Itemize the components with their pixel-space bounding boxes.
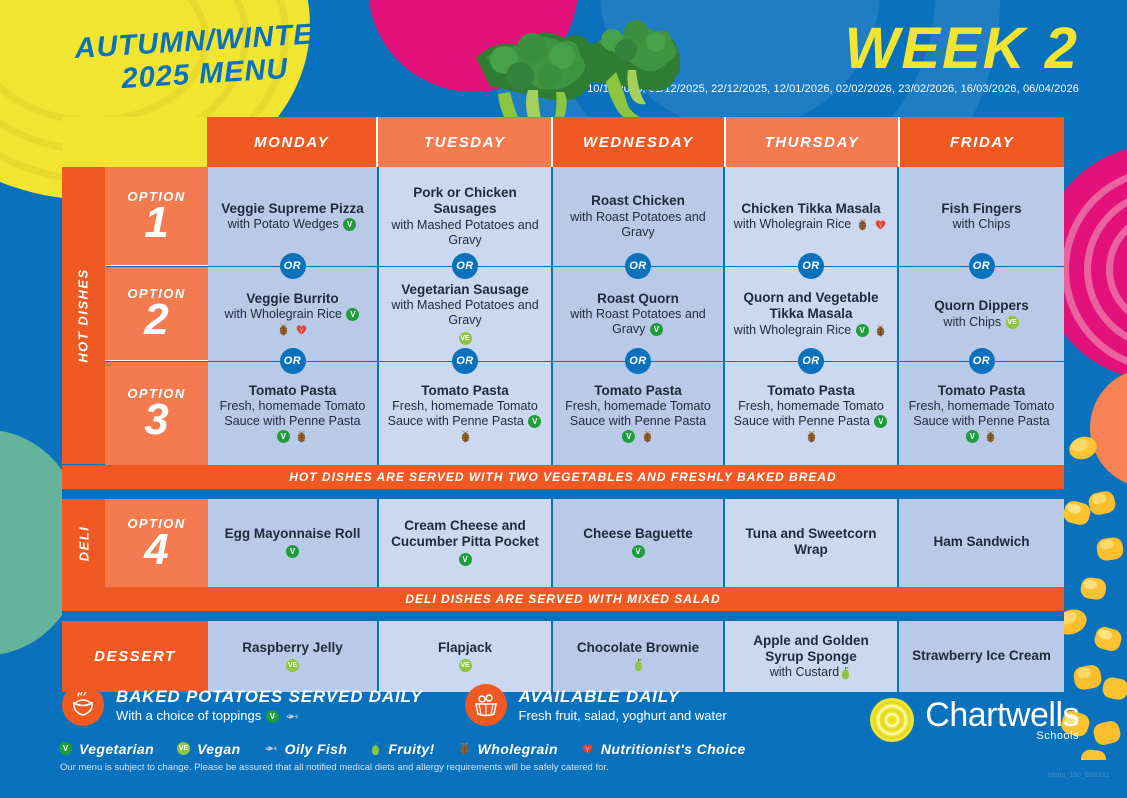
cell-option2-wednesday: Roast Quorn with Roast Potatoes and Grav… xyxy=(553,267,725,361)
available-daily-heading: AVAILABLE DAILY xyxy=(519,687,727,707)
menu-title-block: AUTUMN/WINTER 2025 MENU xyxy=(55,25,355,92)
cell-option2-monday: Veggie Burrito with Wholegrain Rice V OR xyxy=(208,267,379,361)
dish-name: Tomato Pasta xyxy=(938,383,1026,399)
dish-sub: with Wholegrain Rice V xyxy=(734,323,888,338)
available-daily-sub: Fresh fruit, salad, yoghurt and water xyxy=(519,708,727,723)
dish-name: Chicken Tikka Masala xyxy=(741,201,880,217)
fruity-icon xyxy=(633,658,644,672)
wholegrain-icon xyxy=(457,740,472,758)
cell-option4-monday: Egg Mayonnaise Roll V xyxy=(208,499,379,587)
vegetarian-icon: V xyxy=(58,740,73,758)
dish-name: Quorn and Vegetable Tikka Masala xyxy=(733,290,889,321)
vegetarian-icon: V xyxy=(346,308,359,321)
cell-option1-friday: Fish Fingers with Chips OR xyxy=(899,167,1064,266)
dish-icons: V xyxy=(631,544,646,560)
vegetarian-icon: V xyxy=(966,430,979,443)
dish-sub: Fresh, homemade Tomato Sauce with Penne … xyxy=(387,399,543,444)
dish-name: Flapjack xyxy=(438,640,492,656)
vegan-icon: VE xyxy=(286,659,299,672)
vegan-icon: VE xyxy=(459,332,472,345)
daily-info-block: BAKED POTATOES SERVED DAILY With a choic… xyxy=(62,684,727,726)
dish-sub: Fresh, homemade Tomato Sauce with Penne … xyxy=(216,399,369,444)
dish-name: Roast Chicken xyxy=(591,193,685,209)
vegetarian-icon: V xyxy=(856,324,869,337)
dish-sub: with Roast Potatoes and Gravy xyxy=(561,210,715,240)
baked-potato-icon xyxy=(62,684,104,726)
cell-option2-thursday: Quorn and Vegetable Tikka Masala with Wh… xyxy=(725,267,899,361)
legend-label: Fruity! xyxy=(388,741,434,757)
baked-potatoes-heading: BAKED POTATOES SERVED DAILY xyxy=(116,687,423,707)
or-badge: OR xyxy=(798,253,824,279)
week-title: WEEK 2 xyxy=(845,20,1079,78)
hot-dishes-banner: HOT DISHES ARE SERVED WITH TWO VEGETABLE… xyxy=(62,465,1064,489)
cell-dessert-monday: Raspberry Jelly VE xyxy=(208,621,379,692)
dish-name: Apple and Golden Syrup Sponge xyxy=(733,633,889,664)
fruity-icon xyxy=(369,740,382,758)
menu-reference-code: Menu_160_B98331 xyxy=(1048,772,1109,779)
wholegrain-icon xyxy=(874,324,887,337)
dish-name: Roast Quorn xyxy=(597,291,679,307)
option-1-number: 1 xyxy=(144,202,168,244)
option-3-label: OPTION 3 xyxy=(105,362,208,465)
option-4-number: 4 xyxy=(144,529,168,571)
cell-option1-thursday: Chicken Tikka Masala with Wholegrain Ric… xyxy=(725,167,899,266)
option-3-number: 3 xyxy=(144,399,168,441)
oily-fish-icon xyxy=(285,711,299,722)
nutritionists-choice-icon xyxy=(874,218,887,231)
vegetarian-icon: V xyxy=(59,742,72,755)
day-header-monday: MONDAY xyxy=(207,117,379,167)
dish-name: Tomato Pasta xyxy=(249,383,337,399)
option-3-row: OPTION 3 Tomato Pasta Fresh, homemade To… xyxy=(105,362,1064,465)
section-label-deli-text: DELI xyxy=(76,525,91,561)
dish-icons xyxy=(632,657,645,673)
cell-option1-wednesday: Roast Chicken with Roast Potatoes and Gr… xyxy=(553,167,725,266)
chartwells-logo-text: Chartwells Schools xyxy=(925,698,1079,742)
option-2-label: OPTION 2 xyxy=(105,267,208,361)
cell-option3-friday: Tomato Pasta Fresh, homemade Tomato Sauc… xyxy=(899,362,1064,465)
dish-name: Pork or Chicken Sausages xyxy=(387,185,543,216)
cell-dessert-wednesday: Chocolate Brownie xyxy=(553,621,725,692)
vegetarian-icon: V xyxy=(286,545,299,558)
dish-sub: with Wholegrain Rice V xyxy=(216,307,369,337)
legend-label: Vegetarian xyxy=(79,741,154,757)
day-header-thursday: THURSDAY xyxy=(726,117,901,167)
deli-banner: DELI DISHES ARE SERVED WITH MIXED SALAD xyxy=(62,587,1064,611)
cell-option3-wednesday: Tomato Pasta Fresh, homemade Tomato Sauc… xyxy=(553,362,725,465)
dish-name: Veggie Burrito xyxy=(246,291,338,307)
baked-potatoes-info: BAKED POTATOES SERVED DAILY With a choic… xyxy=(62,684,423,726)
fruity-icon xyxy=(370,742,381,756)
option-4-label: OPTION 4 xyxy=(105,499,208,587)
cell-option4-tuesday: Cream Cheese and Cucumber Pitta Pocket V xyxy=(379,499,553,587)
dish-sub: with Chips VE xyxy=(943,315,1019,330)
cell-option2-friday: Quorn Dippers with Chips VE OR xyxy=(899,267,1064,361)
dish-name: Ham Sandwich xyxy=(933,534,1029,550)
dish-sub: Fresh, homemade Tomato Sauce with Penne … xyxy=(733,399,889,444)
broccoli-decoration xyxy=(440,0,680,122)
vegetarian-icon: V xyxy=(277,430,290,443)
day-header-tuesday: TUESDAY xyxy=(378,117,553,167)
dish-icons: V xyxy=(458,552,473,568)
dish-name: Tomato Pasta xyxy=(594,383,682,399)
vegan-icon: VE xyxy=(177,742,190,755)
section-label-hot-dishes-text: HOT DISHES xyxy=(76,268,91,362)
or-badge: OR xyxy=(625,348,651,374)
section-label-dessert: DESSERT xyxy=(62,621,208,692)
option-2-row: OPTION 2 Veggie Burrito with Wholegrain … xyxy=(105,267,1064,361)
nutritionists-choice-icon xyxy=(295,323,308,336)
vegetarian-icon: V xyxy=(459,553,472,566)
fruity-icon xyxy=(840,666,851,680)
dish-name: Raspberry Jelly xyxy=(242,640,343,656)
baked-potatoes-sub: With a choice of toppings V xyxy=(116,708,423,723)
legend-label: Oily Fish xyxy=(285,741,348,757)
dish-name: Fish Fingers xyxy=(941,201,1021,217)
row-gap xyxy=(62,489,1064,499)
available-daily-text: AVAILABLE DAILY Fresh fruit, salad, yogh… xyxy=(519,687,727,723)
row-gap xyxy=(62,611,1064,621)
or-badge: OR xyxy=(280,348,306,374)
cell-option4-friday: Ham Sandwich xyxy=(899,499,1064,587)
dish-sub: Fresh, homemade Tomato Sauce with Penne … xyxy=(907,399,1056,444)
dish-name: Egg Mayonnaise Roll xyxy=(225,526,361,542)
cell-option4-wednesday: Cheese Baguette V xyxy=(553,499,725,587)
or-badge: OR xyxy=(280,253,306,279)
available-daily-info: AVAILABLE DAILY Fresh fruit, salad, yogh… xyxy=(465,684,727,726)
vegan-icon: VE xyxy=(459,659,472,672)
wholegrain-icon xyxy=(856,218,869,231)
disclaimer-text: Our menu is subject to change. Please be… xyxy=(60,762,609,773)
legend-label: Vegan xyxy=(197,741,241,757)
wholegrain-icon xyxy=(805,430,818,443)
dish-sub: with Mashed Potatoes and Gravy xyxy=(387,218,543,248)
vegetarian-icon: V xyxy=(528,415,541,428)
cell-option1-tuesday: Pork or Chicken Sausages with Mashed Pot… xyxy=(379,167,553,266)
diet-legend: V Vegetarian VE Vegan Oily Fish Fruity! … xyxy=(58,740,746,758)
dish-sub: with Potato Wedges V xyxy=(228,217,357,232)
day-header-row: MONDAY TUESDAY WEDNESDAY THURSDAY FRIDAY xyxy=(62,117,1064,167)
wholegrain-icon xyxy=(459,430,472,443)
vegetarian-icon: V xyxy=(632,545,645,558)
dish-name: Tomato Pasta xyxy=(767,383,855,399)
oily-fish-icon xyxy=(263,740,279,758)
option-2-number: 2 xyxy=(144,299,168,341)
nutritionists-choice-icon xyxy=(580,740,595,758)
cell-dessert-thursday: Apple and Golden Syrup Sponge with Custa… xyxy=(725,621,899,692)
cell-option3-thursday: Tomato Pasta Fresh, homemade Tomato Sauc… xyxy=(725,362,899,465)
baked-potatoes-text: BAKED POTATOES SERVED DAILY With a choic… xyxy=(116,687,423,723)
wholegrain-icon xyxy=(641,430,654,443)
or-badge: OR xyxy=(452,253,478,279)
cell-option1-monday: Veggie Supreme Pizza with Potato Wedges … xyxy=(208,167,379,266)
legend-label: Wholegrain xyxy=(478,741,558,757)
dish-name: Chocolate Brownie xyxy=(577,640,699,656)
chartwells-spiral-icon xyxy=(869,697,915,743)
menu-poster: AUTUMN/WINTER 2025 MENU WEEK 2 W/C: 10/1… xyxy=(0,0,1127,798)
dish-sub: Fresh, homemade Tomato Sauce with Penne … xyxy=(561,399,715,444)
vegetarian-icon: V xyxy=(650,323,663,336)
legend-item-fruity: Fruity! xyxy=(369,740,434,758)
dish-icons: VE xyxy=(458,657,473,673)
dish-name: Quorn Dippers xyxy=(934,298,1029,314)
dish-name: Vegetarian Sausage xyxy=(401,282,529,298)
dish-name: Cream Cheese and Cucumber Pitta Pocket xyxy=(387,518,543,549)
dish-sub: with Custard xyxy=(770,665,852,680)
cell-option3-tuesday: Tomato Pasta Fresh, homemade Tomato Sauc… xyxy=(379,362,553,465)
wholegrain-icon xyxy=(984,430,997,443)
dish-sub: with Mashed Potatoes and Gravy xyxy=(387,298,543,328)
dish-sub: with Chips xyxy=(953,217,1011,232)
day-header-friday: FRIDAY xyxy=(900,117,1064,167)
or-badge: OR xyxy=(625,253,651,279)
or-badge: OR xyxy=(452,348,478,374)
chartwells-logo: Chartwells Schools xyxy=(869,697,1079,743)
dish-icons: VE xyxy=(458,330,473,346)
oily-fish-icon xyxy=(264,743,278,754)
vegan-icon: VE xyxy=(176,740,191,758)
deli-block: DELI OPTION 4 Egg Mayonnaise Roll V Crea… xyxy=(62,499,1064,587)
dish-icons: VE xyxy=(285,657,300,673)
wholegrain-icon xyxy=(277,323,290,336)
hot-dishes-rows: OPTION 1 Veggie Supreme Pizza with Potat… xyxy=(105,167,1064,465)
header-spacer xyxy=(62,117,207,167)
legend-label: Nutritionist's Choice xyxy=(601,741,746,757)
dish-name: Tomato Pasta xyxy=(421,383,509,399)
day-header-wednesday: WEDNESDAY xyxy=(553,117,726,167)
cell-option4-thursday: Tuna and Sweetcorn Wrap xyxy=(725,499,899,587)
legend-item-oily-fish: Oily Fish xyxy=(263,740,348,758)
legend-item-wholegrain: Wholegrain xyxy=(457,740,558,758)
nutritionists-choice-icon xyxy=(581,742,594,755)
wholegrain-icon xyxy=(458,742,471,755)
vegan-icon: VE xyxy=(1006,316,1019,329)
option-1-label: OPTION 1 xyxy=(105,167,208,266)
legend-item-nutritionists-choice: Nutritionist's Choice xyxy=(580,740,746,758)
section-label-deli: DELI xyxy=(62,499,105,587)
logo-name: Chartwells xyxy=(925,698,1079,732)
menu-grid: MONDAY TUESDAY WEDNESDAY THURSDAY FRIDAY… xyxy=(62,117,1064,692)
dish-name: Cheese Baguette xyxy=(583,526,693,542)
vegetarian-icon: V xyxy=(343,218,356,231)
cell-option3-monday: Tomato Pasta Fresh, homemade Tomato Sauc… xyxy=(208,362,379,465)
or-badge: OR xyxy=(798,348,824,374)
legend-item-vegetarian: V Vegetarian xyxy=(58,740,154,758)
vegetarian-icon: V xyxy=(622,430,635,443)
vegetarian-icon: V xyxy=(874,415,887,428)
cell-dessert-friday: Strawberry Ice Cream xyxy=(899,621,1064,692)
legend-item-vegan: VE Vegan xyxy=(176,740,241,758)
option-1-row: OPTION 1 Veggie Supreme Pizza with Potat… xyxy=(105,167,1064,266)
cell-option2-tuesday: Vegetarian Sausage with Mashed Potatoes … xyxy=(379,267,553,361)
or-badge: OR xyxy=(969,253,995,279)
vegetarian-icon: V xyxy=(266,710,279,723)
dish-sub: with Roast Potatoes and Gravy V xyxy=(561,307,715,337)
section-label-hot-dishes: HOT DISHES xyxy=(62,167,105,464)
dish-name: Strawberry Ice Cream xyxy=(912,648,1051,664)
hot-dishes-block: HOT DISHES OPTION 1 Veggie Supreme Pizza… xyxy=(62,167,1064,465)
cell-dessert-tuesday: Flapjack VE xyxy=(379,621,553,692)
dish-icons: V xyxy=(285,544,300,560)
or-badge: OR xyxy=(969,348,995,374)
dish-name: Veggie Supreme Pizza xyxy=(221,201,364,217)
dish-name: Tuna and Sweetcorn Wrap xyxy=(733,526,889,557)
dish-sub: with Wholegrain Rice xyxy=(734,217,888,232)
wholegrain-icon xyxy=(295,430,308,443)
dessert-block: DESSERT Raspberry Jelly VE Flapjack VE C… xyxy=(62,621,1064,692)
fruit-basket-icon xyxy=(465,684,507,726)
